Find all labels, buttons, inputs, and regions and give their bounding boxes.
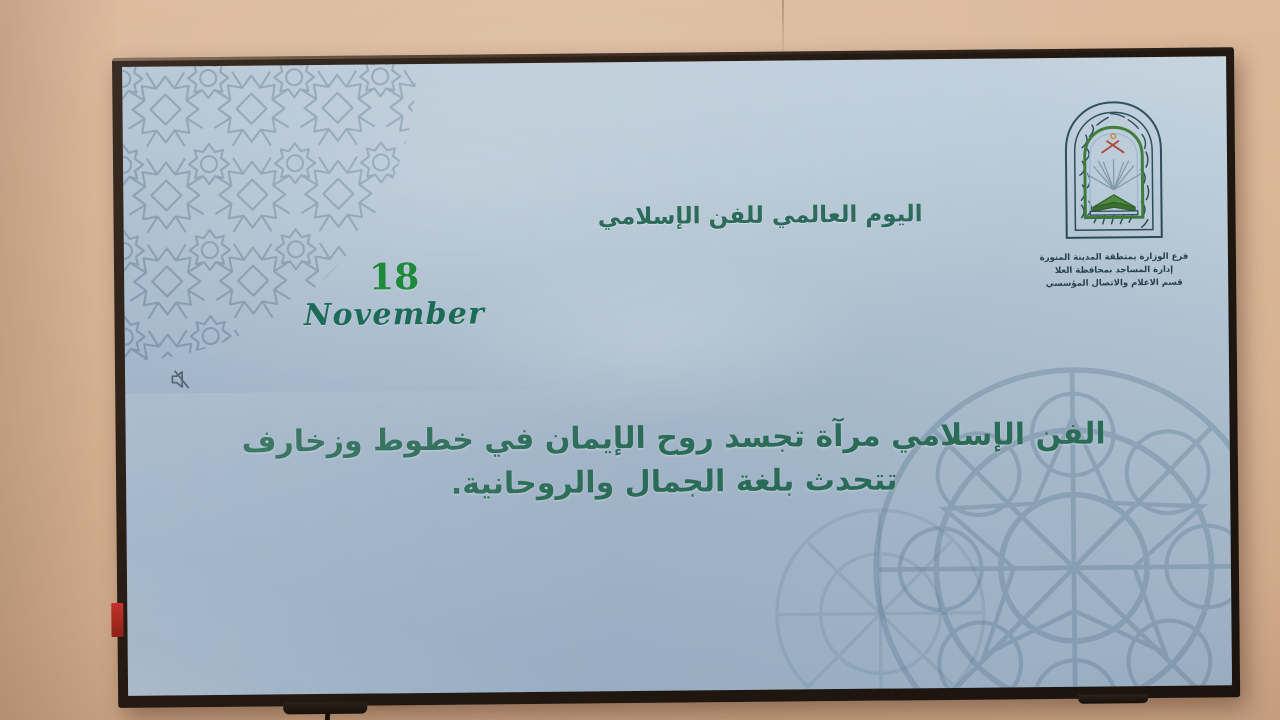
slide-body-line-2: تتحدث بلغة الجمال والروحانية. xyxy=(196,456,1152,509)
date-day: 18 xyxy=(284,258,504,296)
slide-date: 18 November xyxy=(284,258,505,331)
slide-body: الفن الإسلامي مرآة تجسد روح الإيمان في خ… xyxy=(195,412,1152,509)
ministry-logo-line-3: قسم الاعلام والاتصال المؤسسي xyxy=(1034,277,1194,292)
red-label-sticker xyxy=(111,603,123,637)
date-month: November xyxy=(284,299,504,331)
tv-bezel: اليوم العالمي للفن الإسلامي 18 November … xyxy=(112,47,1240,708)
slide-body-line-1: الفن الإسلامي مرآة تجسد روح الإيمان في خ… xyxy=(195,412,1151,465)
tv-bottom-mount xyxy=(1078,694,1148,704)
tv-screen[interactable]: اليوم العالمي للفن الإسلامي 18 November … xyxy=(122,56,1232,696)
slide-title: اليوم العالمي للفن الإسلامي xyxy=(598,201,923,230)
rosette-watermark-secondary xyxy=(764,498,996,696)
ministry-emblem-icon xyxy=(1050,97,1176,248)
wall-shadow xyxy=(0,0,120,720)
ministry-logo-lines: فرع الوزارة بمنطقة المدينة المنورة إدارة… xyxy=(1034,251,1194,292)
television[interactable]: اليوم العالمي للفن الإسلامي 18 November … xyxy=(112,47,1240,708)
room-scene: اليوم العالمي للفن الإسلامي 18 November … xyxy=(0,0,1280,720)
ministry-logo: فرع الوزارة بمنطقة المدينة المنورة إدارة… xyxy=(1032,97,1194,292)
mute-speaker-icon xyxy=(168,366,194,392)
